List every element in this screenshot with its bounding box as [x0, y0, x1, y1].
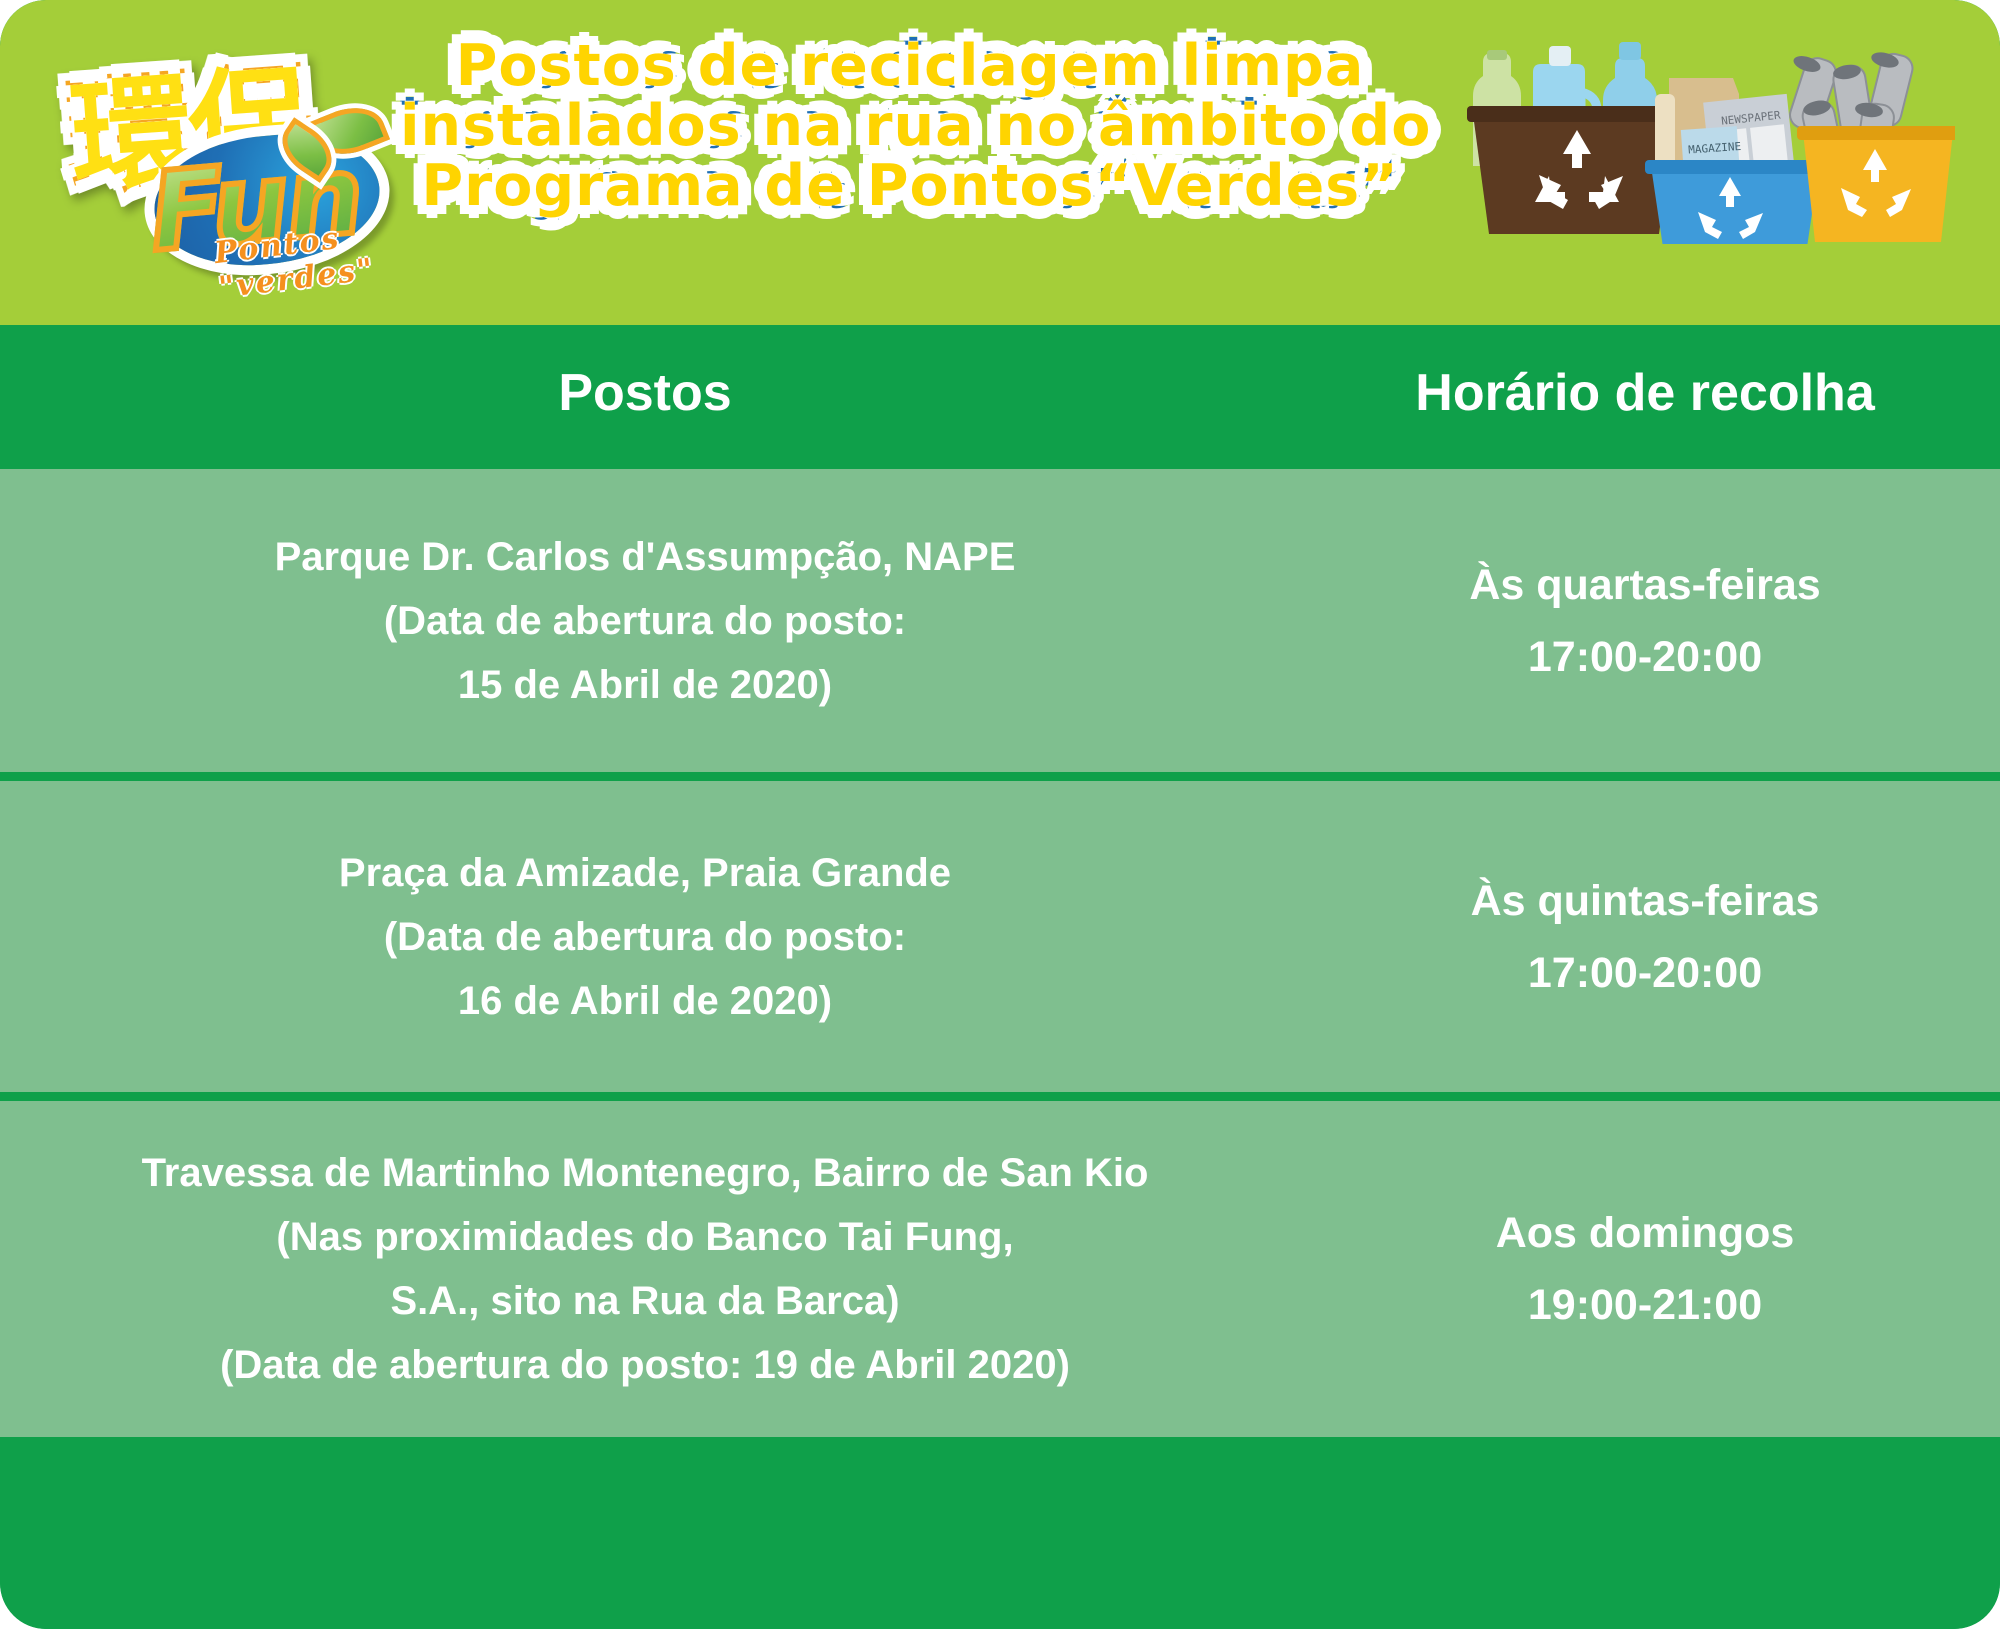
- brand-logo: 環保 環保 Fun Pontos "verdes": [46, 26, 446, 276]
- table-row: Travessa de Martinho Montenegro, Bairro …: [0, 1092, 2000, 1437]
- posto-line: 15 de Abril de 2020): [30, 653, 1260, 717]
- posto-cell: Praça da Amizade, Praia Grande (Data de …: [0, 841, 1290, 1033]
- title-line-2: instalados na rua no âmbito do: [400, 96, 1420, 156]
- posto-line: (Data de abertura do posto:: [30, 905, 1260, 969]
- column-header-horario: Horário de recolha: [1290, 363, 2000, 423]
- posto-line: (Data de abertura do posto:: [30, 589, 1260, 653]
- posto-cell: Travessa de Martinho Montenegro, Bairro …: [0, 1141, 1290, 1397]
- metal-bin: [1797, 126, 1955, 242]
- recycling-bins-illustration: NEWSPAPER MAGAZINE: [1455, 14, 1955, 244]
- horario-day: Às quartas-feiras: [1310, 549, 1980, 621]
- horario-cell: Aos domingos 19:00-21:00: [1290, 1197, 2000, 1341]
- posto-line: S.A., sito na Rua da Barca): [30, 1269, 1260, 1333]
- horario-time: 17:00-20:00: [1310, 937, 1980, 1009]
- posto-line: 16 de Abril de 2020): [30, 969, 1260, 1033]
- horario-time: 17:00-20:00: [1310, 621, 1980, 693]
- horario-day: Aos domingos: [1310, 1197, 1980, 1269]
- horario-time: 19:00-21:00: [1310, 1269, 1980, 1341]
- paper-bin: [1645, 160, 1825, 244]
- horario-day: Às quintas-feiras: [1310, 865, 1980, 937]
- footer-bar: [0, 1519, 2000, 1629]
- poster-header: 環保 環保 Fun Pontos "verdes" Postos de reci…: [0, 0, 2000, 325]
- posto-line: Praça da Amizade, Praia Grande: [30, 841, 1260, 905]
- poster-title: Postos de reciclagem limpa instalados na…: [400, 36, 1420, 216]
- recycling-schedule-poster: 環保 環保 Fun Pontos "verdes" Postos de reci…: [0, 0, 2000, 1629]
- table-row: Praça da Amizade, Praia Grande (Data de …: [0, 772, 2000, 1092]
- horario-cell: Às quartas-feiras 17:00-20:00: [1290, 549, 2000, 693]
- posto-line: (Data de abertura do posto: 19 de Abril …: [30, 1333, 1260, 1397]
- schedule-table: Postos Horário de recolha Parque Dr. Car…: [0, 325, 2000, 1437]
- title-line-1: Postos de reciclagem limpa: [400, 36, 1420, 96]
- table-row: Parque Dr. Carlos d'Assumpção, NAPE (Dat…: [0, 460, 2000, 772]
- recycling-bins-svg: NEWSPAPER MAGAZINE: [1455, 14, 1955, 244]
- column-header-postos: Postos: [0, 363, 1290, 423]
- posto-line: Travessa de Martinho Montenegro, Bairro …: [30, 1141, 1260, 1205]
- table-header-row: Postos Horário de recolha: [0, 325, 2000, 460]
- posto-line: (Nas proximidades do Banco Tai Fung,: [30, 1205, 1260, 1269]
- horario-cell: Às quintas-feiras 17:00-20:00: [1290, 865, 2000, 1009]
- posto-cell: Parque Dr. Carlos d'Assumpção, NAPE (Dat…: [0, 525, 1290, 717]
- title-line-3: Programa de Pontos“Verdes”: [400, 156, 1420, 216]
- posto-line: Parque Dr. Carlos d'Assumpção, NAPE: [30, 525, 1260, 589]
